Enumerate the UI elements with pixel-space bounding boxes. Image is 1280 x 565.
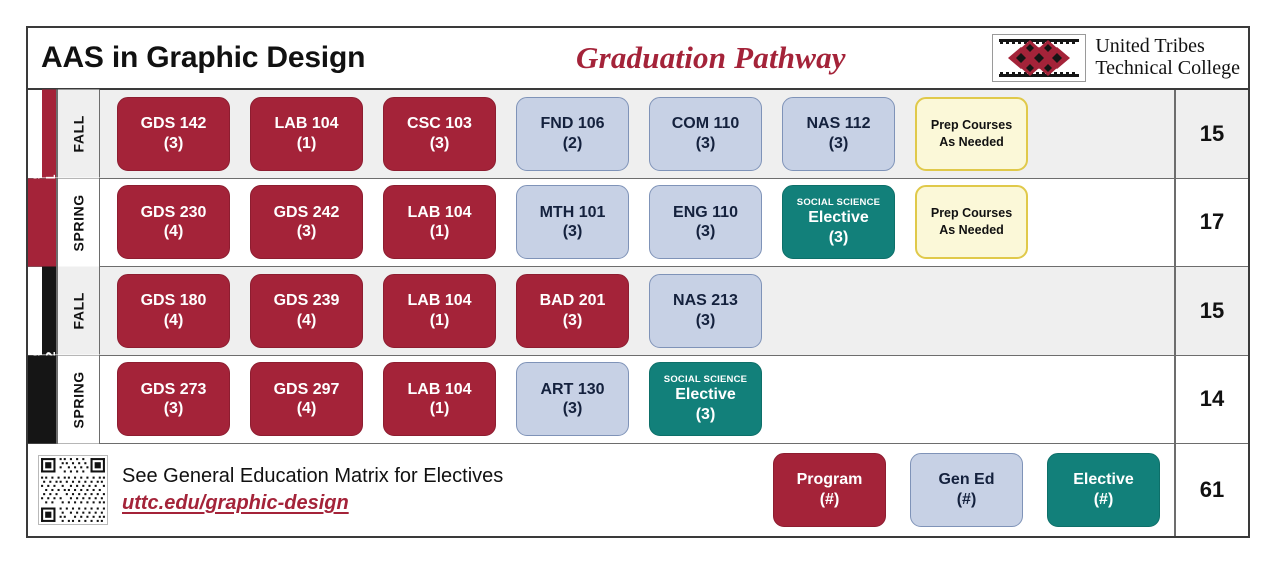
course-chip[interactable]: GDS 239(4) — [250, 274, 363, 348]
course-credits: (4) — [297, 311, 317, 331]
pathway-subtitle: Graduation Pathway — [576, 40, 846, 76]
course-slot: GDS 242(3) — [240, 179, 373, 267]
prep-line-2: As Needed — [939, 134, 1004, 151]
course-row: GDS 230(4)GDS 242(3)LAB 104(1)MTH 101(3)… — [100, 179, 1174, 267]
course-credits: (4) — [164, 311, 184, 331]
prep-courses-chip[interactable]: Prep CoursesAs Needed — [915, 97, 1028, 171]
course-credits: (4) — [164, 222, 184, 242]
course-code: LAB 104 — [274, 114, 338, 134]
course-chip[interactable]: LAB 104(1) — [250, 97, 363, 171]
term-row: FALLGDS 180(4)GDS 239(4)LAB 104(1)BAD 20… — [28, 267, 1248, 356]
pathway-sheet: AAS in Graphic Design Graduation Pathway — [26, 26, 1250, 538]
course-credits: (3) — [829, 228, 849, 248]
course-slot: GDS 273(3) — [107, 356, 240, 444]
course-credits: (3) — [563, 399, 583, 419]
course-chip[interactable]: GDS 273(3) — [117, 362, 230, 436]
course-code: CSC 103 — [407, 114, 472, 134]
course-slot — [1038, 267, 1171, 355]
term-credit-total: 15 — [1174, 267, 1248, 355]
college-name-line2: Technical College — [1095, 57, 1240, 79]
course-slot: ENG 110(3) — [639, 179, 772, 267]
course-slot — [772, 356, 905, 444]
course-slot: NAS 213(3) — [639, 267, 772, 355]
course-credits: (1) — [430, 399, 450, 419]
course-chip[interactable]: GDS 142(3) — [117, 97, 230, 171]
legend-credits: (#) — [820, 490, 840, 510]
term-label: FALL — [56, 267, 100, 355]
course-slot: LAB 104(1) — [373, 179, 506, 267]
course-slot: GDS 239(4) — [240, 267, 373, 355]
course-credits: (3) — [696, 405, 716, 425]
course-code: GDS 230 — [141, 203, 207, 223]
term-credit-total: 17 — [1174, 179, 1248, 267]
prep-line-2: As Needed — [939, 222, 1004, 239]
course-credits: (3) — [563, 311, 583, 331]
course-chip[interactable]: FND 106(2) — [516, 97, 629, 171]
year-label — [28, 179, 56, 267]
course-chip[interactable]: LAB 104(1) — [383, 274, 496, 348]
footer-note: See General Education Matrix for Electiv… — [122, 465, 503, 488]
united-tribes-diamond-logo-icon — [992, 34, 1086, 82]
course-chip[interactable]: BAD 201(3) — [516, 274, 629, 348]
course-slot: SOCIAL SCIENCEElective(3) — [639, 356, 772, 444]
legend-label: Elective — [1073, 470, 1133, 490]
course-credits: (3) — [696, 134, 716, 154]
course-chip[interactable]: LAB 104(1) — [383, 362, 496, 436]
course-credits: (1) — [430, 222, 450, 242]
legend-label: Program — [797, 470, 863, 490]
footer-note-block: See General Education Matrix for Electiv… — [28, 444, 773, 536]
term-credit-total: 14 — [1174, 356, 1248, 444]
course-code: FND 106 — [540, 114, 604, 134]
course-slot — [1038, 179, 1171, 267]
course-slot: BAD 201(3) — [506, 267, 639, 355]
course-chip[interactable]: GDS 297(4) — [250, 362, 363, 436]
course-slot: LAB 104(1) — [373, 267, 506, 355]
legend-program-chip[interactable]: Program(#) — [773, 453, 886, 527]
term-row: SPRINGGDS 230(4)GDS 242(3)LAB 104(1)MTH … — [28, 179, 1248, 268]
course-code: LAB 104 — [407, 291, 471, 311]
course-slot: LAB 104(1) — [373, 356, 506, 444]
course-code: ENG 110 — [673, 203, 738, 223]
sheet-header: AAS in Graphic Design Graduation Pathway — [28, 28, 1248, 90]
course-credits: (3) — [164, 134, 184, 154]
term-row: FALLGDS 142(3)LAB 104(1)CSC 103(3)FND 10… — [28, 90, 1248, 179]
footer-text: See General Education Matrix for Electiv… — [122, 465, 503, 515]
legend-gened-chip[interactable]: Gen Ed(#) — [910, 453, 1023, 527]
legend: Program(#)Gen Ed(#)Elective(#) — [773, 453, 1174, 527]
year-label — [28, 356, 56, 444]
course-slot: Prep CoursesAs Needed — [905, 90, 1038, 178]
course-slot: GDS 142(3) — [107, 90, 240, 178]
course-credits: (3) — [563, 222, 583, 242]
pathway-grid: FALLGDS 142(3)LAB 104(1)CSC 103(3)FND 10… — [28, 90, 1248, 444]
course-slot: Prep CoursesAs Needed — [905, 179, 1038, 267]
course-credits: (3) — [164, 399, 184, 419]
course-code: GDS 180 — [141, 291, 207, 311]
course-code: GDS 239 — [274, 291, 340, 311]
course-row: GDS 180(4)GDS 239(4)LAB 104(1)BAD 201(3)… — [100, 267, 1174, 355]
grand-total: 61 — [1174, 444, 1248, 536]
course-code: LAB 104 — [407, 380, 471, 400]
course-chip[interactable]: COM 110(3) — [649, 97, 762, 171]
course-credits: (3) — [297, 222, 317, 242]
prep-courses-chip[interactable]: Prep CoursesAs Needed — [915, 185, 1028, 259]
course-code: LAB 104 — [407, 203, 471, 223]
course-slot: MTH 101(3) — [506, 179, 639, 267]
course-code: GDS 297 — [274, 380, 340, 400]
course-slot: SOCIAL SCIENCEElective(3) — [772, 179, 905, 267]
course-row: GDS 273(3)GDS 297(4)LAB 104(1)ART 130(3)… — [100, 356, 1174, 444]
legend-label: Gen Ed — [938, 470, 994, 490]
course-credits: (1) — [430, 311, 450, 331]
course-code: GDS 142 — [141, 114, 207, 134]
course-credits: (3) — [696, 311, 716, 331]
term-label: SPRING — [56, 356, 100, 444]
college-logo: United Tribes Technical College — [992, 34, 1240, 82]
course-slot — [905, 267, 1038, 355]
course-slot: GDS 180(4) — [107, 267, 240, 355]
term-label: FALL — [56, 90, 100, 178]
course-credits: (3) — [829, 134, 849, 154]
program-link[interactable]: uttc.edu/graphic-design — [122, 492, 503, 515]
elective-chip[interactable]: SOCIAL SCIENCEElective(3) — [649, 362, 762, 436]
prep-line-1: Prep Courses — [931, 205, 1012, 222]
legend-elective-chip[interactable]: Elective(#) — [1047, 453, 1160, 527]
course-code: COM 110 — [672, 114, 740, 134]
page-title: AAS in Graphic Design — [41, 41, 365, 75]
course-code: Elective — [808, 208, 868, 228]
course-chip[interactable]: MTH 101(3) — [516, 185, 629, 259]
course-slot: ART 130(3) — [506, 356, 639, 444]
course-slot — [772, 267, 905, 355]
legend-credits: (#) — [957, 490, 977, 510]
term-credit-total: 15 — [1174, 90, 1248, 178]
term-row: SPRINGGDS 273(3)GDS 297(4)LAB 104(1)ART … — [28, 356, 1248, 445]
course-slot: GDS 297(4) — [240, 356, 373, 444]
course-slot: CSC 103(3) — [373, 90, 506, 178]
course-chip[interactable]: LAB 104(1) — [383, 185, 496, 259]
course-slot: NAS 112(3) — [772, 90, 905, 178]
course-row: GDS 142(3)LAB 104(1)CSC 103(3)FND 106(2)… — [100, 90, 1174, 178]
course-credits: (2) — [563, 134, 583, 154]
elective-chip[interactable]: SOCIAL SCIENCEElective(3) — [782, 185, 895, 259]
course-credits: (3) — [430, 134, 450, 154]
course-slot — [905, 356, 1038, 444]
course-slot — [1038, 356, 1171, 444]
college-name-line1: United Tribes — [1095, 35, 1204, 57]
course-code: Elective — [675, 385, 735, 405]
course-chip[interactable]: GDS 230(4) — [117, 185, 230, 259]
course-chip[interactable]: ART 130(3) — [516, 362, 629, 436]
course-credits: (1) — [297, 134, 317, 154]
course-chip[interactable]: NAS 112(3) — [782, 97, 895, 171]
course-code: GDS 242 — [274, 203, 340, 223]
course-credits: (4) — [297, 399, 317, 419]
course-slot: COM 110(3) — [639, 90, 772, 178]
course-code: MTH 101 — [540, 203, 606, 223]
course-chip[interactable]: CSC 103(3) — [383, 97, 496, 171]
course-slot: LAB 104(1) — [240, 90, 373, 178]
course-code: BAD 201 — [540, 291, 606, 311]
college-name: United Tribes Technical College — [1095, 36, 1240, 79]
course-chip[interactable]: NAS 213(3) — [649, 274, 762, 348]
course-code: ART 130 — [540, 380, 604, 400]
course-chip[interactable]: GDS 180(4) — [117, 274, 230, 348]
course-code: NAS 213 — [673, 291, 738, 311]
course-chip[interactable]: GDS 242(3) — [250, 185, 363, 259]
legend-credits: (#) — [1094, 490, 1114, 510]
course-slot — [1038, 90, 1171, 178]
course-slot: GDS 230(4) — [107, 179, 240, 267]
course-code: GDS 273 — [141, 380, 207, 400]
course-slot: FND 106(2) — [506, 90, 639, 178]
prep-line-1: Prep Courses — [931, 117, 1012, 134]
term-label: SPRING — [56, 179, 100, 267]
course-code: NAS 112 — [806, 114, 870, 134]
course-chip[interactable]: ENG 110(3) — [649, 185, 762, 259]
sheet-footer: See General Education Matrix for Electiv… — [28, 444, 1248, 536]
qr-code-icon[interactable] — [38, 455, 108, 525]
course-credits: (3) — [696, 222, 716, 242]
